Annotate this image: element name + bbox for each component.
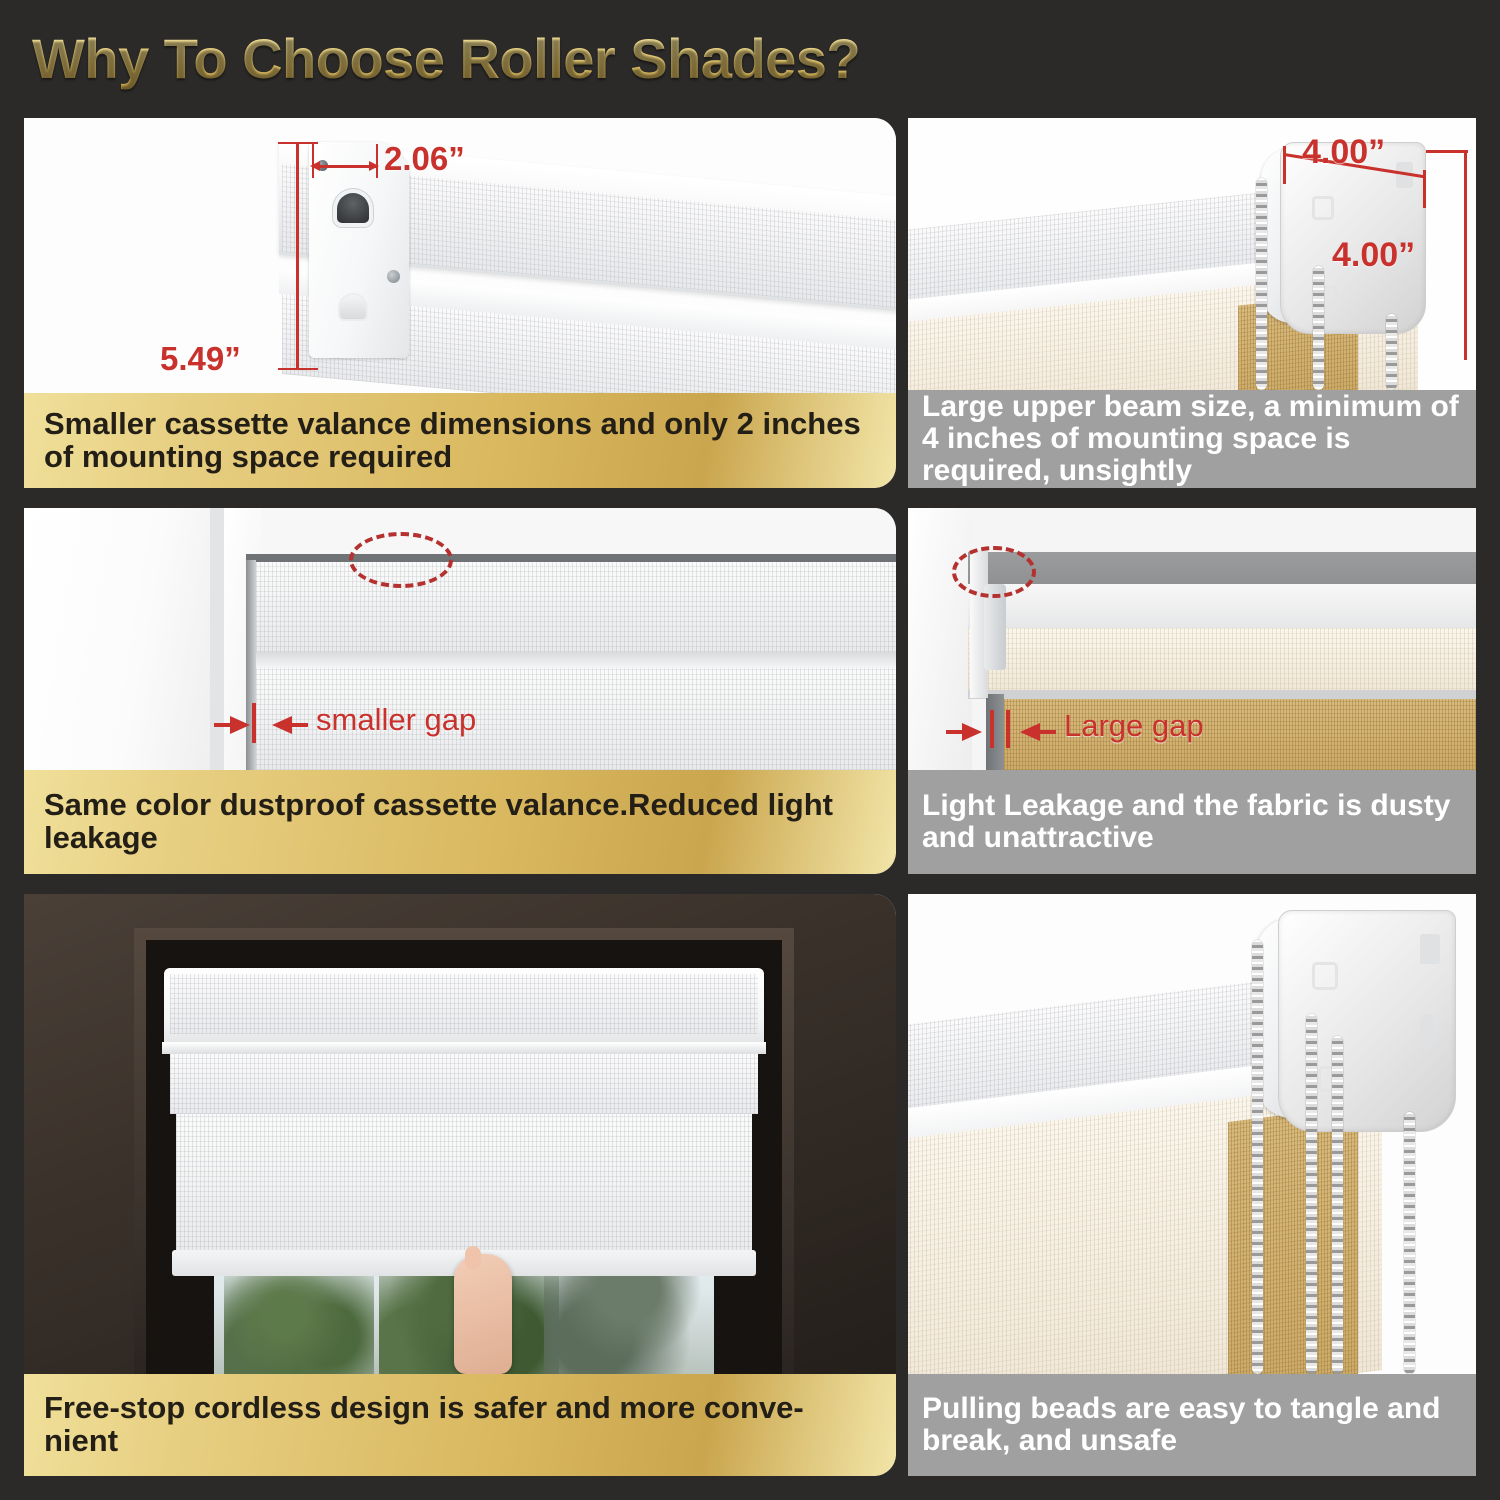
infographic-page: Why To Choose Roller Shades? 2.06”	[0, 0, 1500, 1500]
valance-head-texture	[170, 974, 758, 1034]
width-arrow-right-icon	[369, 161, 379, 171]
pulling-bead-chain-3[interactable]	[1332, 1036, 1343, 1374]
panel-4-caption-text: Light Leakage and the fabric is dusty an…	[922, 790, 1462, 854]
shade-roll-band	[170, 1054, 758, 1114]
beam-depth-ext-top	[1426, 150, 1468, 153]
pulling-bead-chain-2[interactable]	[1306, 1014, 1317, 1374]
panel-1-caption-bar: Smaller cassette valance dimensions and …	[24, 393, 896, 488]
panel-3-caption-bar: Same color dustproof cassette valance.Re…	[24, 770, 896, 874]
panel-smaller-cassette: 2.06” 5.49” Smaller cassette valance dim…	[24, 118, 896, 488]
gap-marker-line	[252, 703, 256, 743]
beam-depth-dim-line	[1464, 150, 1467, 360]
large-gap-marker-1	[990, 710, 994, 748]
panel-6-caption-bar: Pulling beads are easy to tangle and bre…	[908, 1374, 1476, 1476]
panel-3-photo: smaller gap	[24, 508, 896, 770]
panel-2-caption-bar: Large upper beam size, a minimum of 4 in…	[908, 390, 1476, 488]
window-frame-reveal	[210, 508, 224, 770]
panel-pulling-beads: Pulling beads are easy to tangle and bre…	[908, 894, 1476, 1476]
valance-top-edge	[246, 554, 896, 562]
large-gap-arrow-left-icon	[962, 723, 982, 741]
valance-head-lip	[162, 1042, 766, 1054]
smaller-gap-label: smaller gap	[316, 702, 476, 738]
beam-width-label: 4.00”	[1302, 133, 1385, 172]
height-dim-line	[296, 142, 299, 370]
shade-fabric-main	[176, 1114, 752, 1262]
panel-1-caption-text: Smaller cassette valance dimensions and …	[44, 408, 876, 474]
panel-6-caption-text: Pulling beads are easy to tangle and bre…	[922, 1393, 1462, 1457]
pulling-bead-chain-1[interactable]	[1252, 940, 1263, 1374]
upper-shadow-band	[968, 552, 1476, 586]
bracket-large-slot-icon	[1420, 934, 1440, 964]
gap-arrow-left-icon	[230, 716, 250, 734]
bead-chain-back	[1313, 266, 1324, 390]
corner-detail-ring	[952, 546, 1036, 598]
seam-detail-ring	[349, 532, 453, 588]
panel-1-photo: 2.06” 5.49”	[24, 118, 896, 393]
panel-4-caption-bar: Light Leakage and the fabric is dusty an…	[908, 770, 1476, 874]
panel-5-photo	[24, 894, 896, 1374]
width-arrow-left-icon	[310, 161, 320, 171]
gap-arrow-left-tail	[214, 723, 232, 727]
end-cap-pin-icon	[340, 295, 366, 319]
large-gap-arrow-left-tail	[946, 730, 964, 734]
bracket-large-slot-icon-2	[1420, 1014, 1434, 1048]
gap-arrow-right-tail	[290, 723, 308, 727]
height-dimension-label: 5.49”	[160, 340, 241, 378]
beam-width-ext-left	[1283, 146, 1286, 184]
beam-depth-label: 4.00”	[1332, 236, 1415, 275]
large-gap-label: Large gap	[1064, 708, 1204, 744]
height-ext-line-bottom	[278, 368, 318, 370]
panel-5-caption-text: Free-stop cordless design is safer and m…	[44, 1392, 876, 1458]
large-gap-arrow-right-icon	[1020, 723, 1040, 741]
panel-large-upper-beam: 4.00” 4.00” Large upper beam size, a min…	[908, 118, 1476, 488]
end-cap-socket-icon	[337, 193, 369, 223]
panel-5-caption-bar: Free-stop cordless design is safer and m…	[24, 1374, 896, 1476]
large-gap-arrow-right-tail	[1038, 730, 1056, 734]
valance-cream-face	[968, 628, 1476, 694]
page-title: Why To Choose Roller Shades?	[32, 26, 860, 91]
roller-tube-face	[968, 584, 1476, 632]
panel-dustproof-valance: smaller gap Same color dustproof cassett…	[24, 508, 896, 874]
panel-2-caption-text: Large upper beam size, a minimum of 4 in…	[922, 391, 1462, 486]
large-gap-dark-edge	[986, 694, 1004, 770]
panel-light-leakage: Large gap Light Leakage and the fabric i…	[908, 508, 1476, 874]
hand[interactable]	[454, 1254, 512, 1374]
valance-edge-line	[968, 690, 1476, 699]
bead-chain-loop	[1386, 314, 1397, 390]
bead-chain-front	[1256, 178, 1267, 390]
window-frame-outer	[24, 508, 238, 770]
bracket-emboss-icon	[1312, 196, 1334, 220]
height-ext-line-top	[278, 142, 318, 144]
large-gap-marker-2	[1006, 710, 1010, 748]
panel-2-photo: 4.00” 4.00”	[908, 118, 1476, 390]
panel-6-photo	[908, 894, 1476, 1374]
finger	[465, 1246, 481, 1270]
pulling-bead-chain-4[interactable]	[1404, 1112, 1415, 1374]
gap-arrow-right-icon	[272, 716, 292, 734]
valance-bottom-lip	[252, 652, 896, 668]
end-cap-screw-icon-2	[387, 270, 400, 283]
width-dimension-label: 2.06”	[384, 140, 465, 178]
bracket-large-emboss-icon	[1312, 962, 1338, 990]
panel-4-photo: Large gap	[908, 508, 1476, 770]
cassette-valance-face	[252, 562, 896, 652]
panel-3-caption-text: Same color dustproof cassette valance.Re…	[44, 789, 876, 855]
panel-cordless-design: Free-stop cordless design is safer and m…	[24, 894, 896, 1476]
